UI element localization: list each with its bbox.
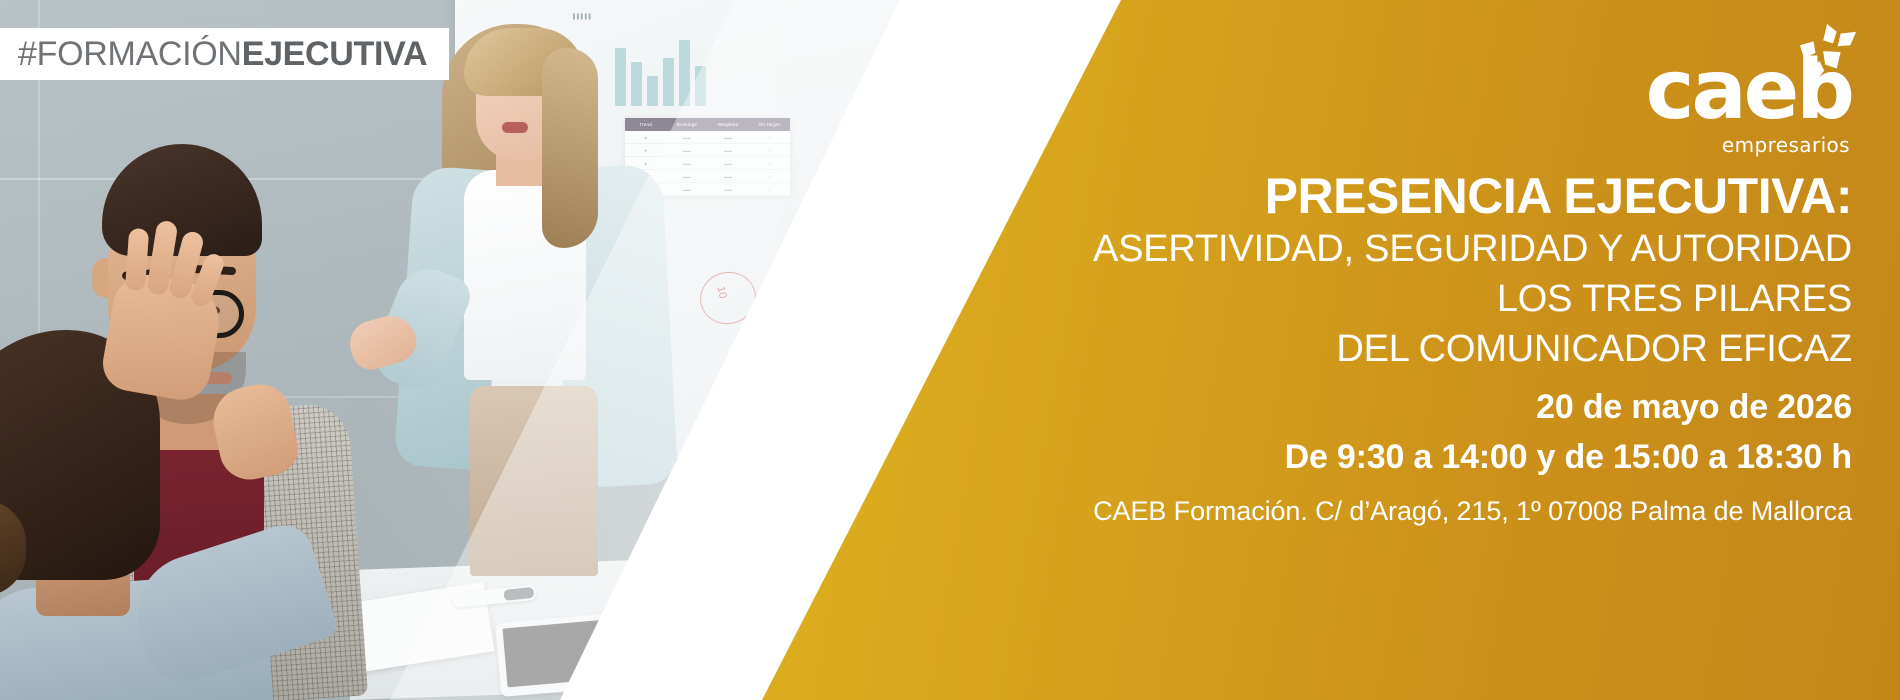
headline-line-4: DEL COMUNICADOR EFICAZ: [852, 324, 1852, 374]
presenter-trousers: [470, 386, 598, 576]
table-header-cell: On Target: [749, 122, 790, 127]
headline-line-3: LOS TRES PILARES: [852, 274, 1852, 324]
hashtag-emphasis: EJECUTIVA: [242, 37, 428, 71]
presenter-mouth: [502, 122, 528, 133]
event-date: 20 de mayo de 2026: [852, 382, 1852, 432]
promo-banner: ▌▌▌▌▌ Trend Bookings Weighted On Target …: [0, 0, 1900, 700]
foreground-woman: [0, 330, 280, 700]
presenter-hair-side: [542, 48, 598, 248]
venue-address: CAEB Formación. C/ d’Aragó, 215, 1º 0700…: [752, 494, 1852, 528]
hashtag-badge: #FORMACIÓN EJECUTIVA: [0, 28, 449, 80]
caeb-tagline: empresarios: [1722, 135, 1850, 155]
hashtag-prefix: #FORMACIÓN: [18, 37, 242, 71]
headline-line-2: ASERTIVIDAD, SEGURIDAD Y AUTORIDAD: [852, 224, 1852, 274]
headline-block: PRESENCIA EJECUTIVA: ASERTIVIDAD, SEGURI…: [852, 168, 1852, 374]
foreground-woman-raised-hand: [99, 270, 226, 405]
caeb-logo[interactable]: caeb empresarios: [1610, 22, 1860, 152]
caeb-wordmark: caeb: [1646, 50, 1852, 132]
finger: [125, 228, 149, 291]
headline-line-1: PRESENCIA EJECUTIVA:: [852, 168, 1852, 224]
event-hours: De 9:30 a 14:00 y de 15:00 a 18:30 h: [852, 432, 1852, 482]
schedule-block: 20 de mayo de 2026 De 9:30 a 14:00 y de …: [852, 382, 1852, 482]
